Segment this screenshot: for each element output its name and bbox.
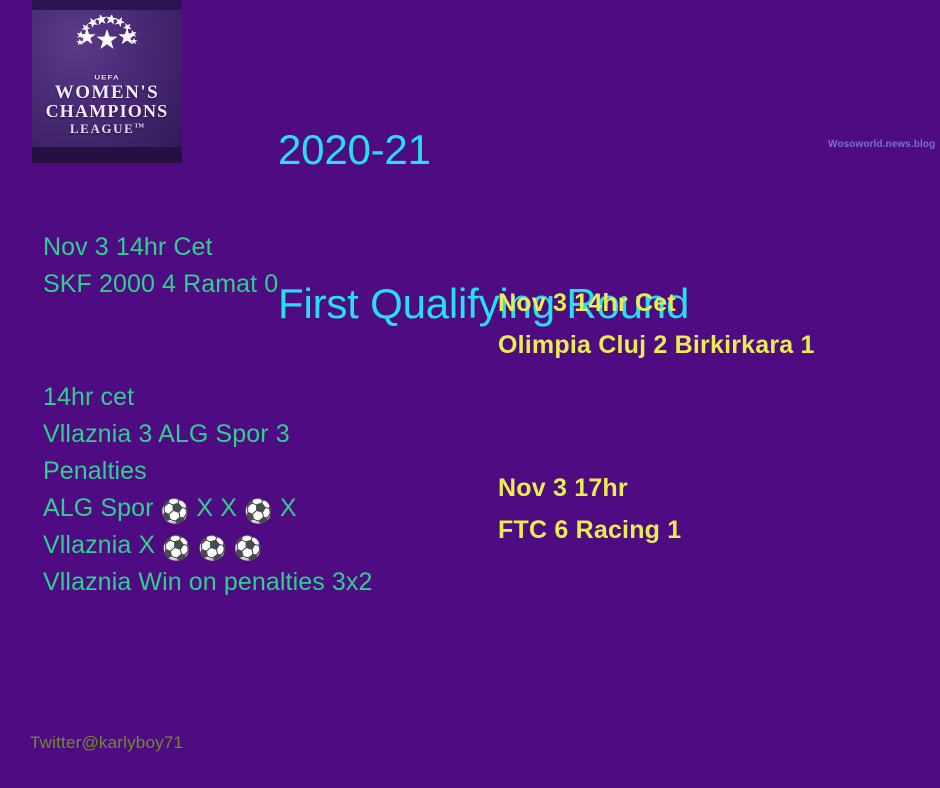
penalty-team-name: Vllaznia xyxy=(43,531,138,559)
right-column-spacer xyxy=(498,366,918,467)
penalty-shootout-row: Vllaznia X ⚽ ⚽ ⚽ xyxy=(43,527,463,564)
penalty-miss-mark: X xyxy=(280,494,297,522)
penalty-shootout-row: ALG Spor ⚽ X X ⚽ X xyxy=(43,490,463,527)
logo-league-text: LEAGUETM xyxy=(70,121,144,137)
soccer-ball-icon: ⚽ xyxy=(162,537,191,560)
logo-trademark: TM xyxy=(134,124,144,130)
logo-champions-text: CHAMPIONS xyxy=(46,102,169,121)
right-match-1-time: Nov 3 14hr Cet xyxy=(498,282,918,324)
right-match-2-result: FTC 6 Racing 1 xyxy=(498,509,918,551)
right-match-1-result: Olimpia Cluj 2 Birkirkara 1 xyxy=(498,324,918,366)
soccer-ball-icon: ⚽ xyxy=(198,537,227,560)
logo-uefa-text: UEFA xyxy=(94,74,119,81)
title-season: 2020-21 xyxy=(278,124,689,175)
right-results-column: Nov 3 14hr Cet Olimpia Cluj 2 Birkirkara… xyxy=(498,282,918,551)
left-column-spacer xyxy=(43,303,463,379)
star-ring-icon xyxy=(47,15,167,71)
soccer-ball-icon: ⚽ xyxy=(244,500,273,523)
left-results-column: Nov 3 14hr Cet SKF 2000 4 Ramat 0 14hr c… xyxy=(43,229,463,601)
penalty-miss-mark: X xyxy=(220,494,237,522)
left-match-1-result: SKF 2000 4 Ramat 0 xyxy=(43,266,463,303)
soccer-ball-icon: ⚽ xyxy=(161,500,190,523)
logo-womens-text: WOMEN'S xyxy=(55,83,159,102)
left-match-1: Nov 3 14hr Cet SKF 2000 4 Ramat 0 xyxy=(43,229,463,303)
right-match-2: Nov 3 17hr FTC 6 Racing 1 xyxy=(498,467,918,551)
logo-league-word: LEAGUE xyxy=(70,121,135,136)
left-match-2-penalties-label: Penalties xyxy=(43,453,463,490)
site-watermark: Wosoworld.news.blog xyxy=(828,139,935,150)
penalty-shootout-rows: ALG Spor ⚽ X X ⚽ XVllaznia X ⚽ ⚽ ⚽ xyxy=(43,490,463,564)
slide-canvas: UEFA WOMEN'S CHAMPIONS LEAGUETM 2020-21 … xyxy=(0,0,940,788)
penalty-miss-mark: X xyxy=(196,494,213,522)
soccer-ball-icon: ⚽ xyxy=(234,537,263,560)
uefa-womens-champions-league-logo: UEFA WOMEN'S CHAMPIONS LEAGUETM xyxy=(32,0,182,163)
penalty-miss-mark: X xyxy=(138,531,155,559)
left-match-2-outcome: Vllaznia Win on penalties 3x2 xyxy=(43,564,463,601)
left-match-2-time: 14hr cet xyxy=(43,379,463,416)
right-match-1: Nov 3 14hr Cet Olimpia Cluj 2 Birkirkara… xyxy=(498,282,918,366)
left-match-2-result: Vllaznia 3 ALG Spor 3 xyxy=(43,416,463,453)
penalty-team-name: ALG Spor xyxy=(43,494,161,522)
left-match-2: 14hr cet Vllaznia 3 ALG Spor 3 Penalties… xyxy=(43,379,463,601)
left-match-1-time: Nov 3 14hr Cet xyxy=(43,229,463,266)
right-match-2-time: Nov 3 17hr xyxy=(498,467,918,509)
twitter-handle: Twitter@karlyboy71 xyxy=(30,733,183,753)
